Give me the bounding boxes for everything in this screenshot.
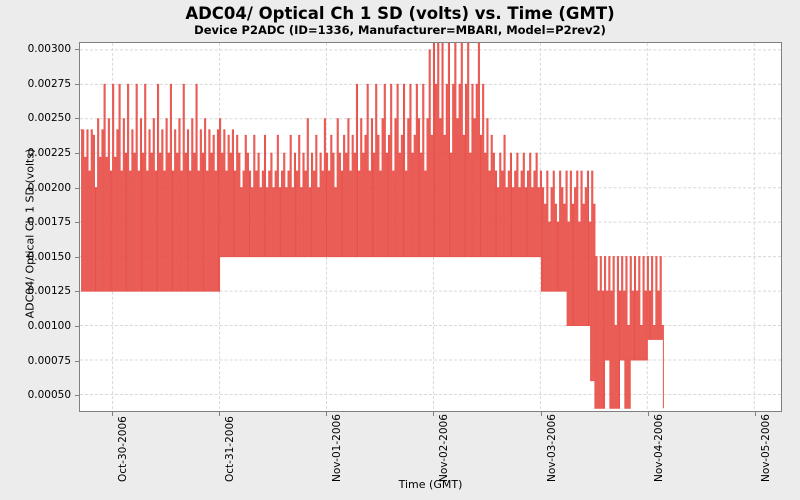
x-tick-mark <box>112 412 113 416</box>
y-axis-title: ADC04/ Optical Ch 1 SD (volts) <box>24 134 37 334</box>
x-tick-mark <box>326 412 327 416</box>
y-tick-label: 0.00050 <box>0 389 71 401</box>
x-tick-label: Nov-02-2006 <box>438 414 450 482</box>
chart-subtitle: Device P2ADC (ID=1336, Manufacturer=MBAR… <box>0 23 800 37</box>
x-tick-mark <box>541 412 542 416</box>
chart-root: ADC04/ Optical Ch 1 SD (volts) vs. Time … <box>0 0 800 500</box>
y-tick-label: 0.00075 <box>0 355 71 367</box>
y-tick-label: 0.00300 <box>0 43 71 55</box>
x-tick-mark <box>648 412 649 416</box>
x-tick-mark <box>219 412 220 416</box>
x-tick-label: Nov-03-2006 <box>546 414 558 482</box>
chart-title: ADC04/ Optical Ch 1 SD (volts) vs. Time … <box>0 4 800 23</box>
x-tick-mark <box>433 412 434 416</box>
y-tick-label: 0.00250 <box>0 112 71 124</box>
plot-area <box>79 42 782 412</box>
data-series-line <box>80 43 781 411</box>
x-tick-label: Nov-01-2006 <box>331 414 343 482</box>
x-tick-mark <box>755 412 756 416</box>
y-tick-label: 0.00275 <box>0 78 71 90</box>
x-tick-label: Nov-04-2006 <box>653 414 665 482</box>
x-tick-label: Oct-30-2006 <box>117 416 129 482</box>
x-axis-title: Time (GMT) <box>79 478 782 491</box>
x-tick-label: Nov-05-2006 <box>760 414 772 482</box>
x-tick-label: Oct-31-2006 <box>224 416 236 482</box>
